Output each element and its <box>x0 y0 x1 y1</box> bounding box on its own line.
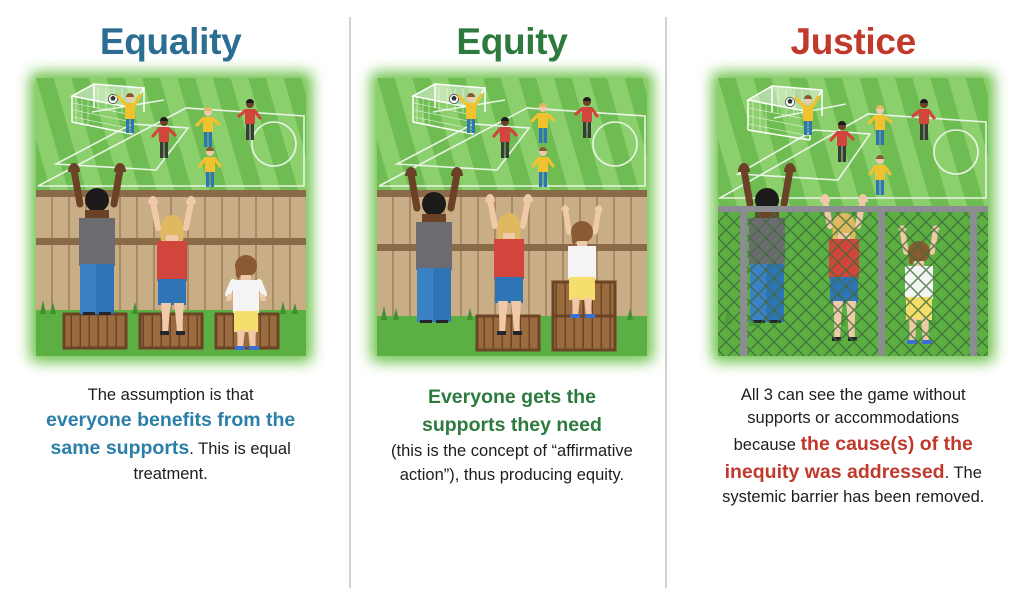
caption-part1: The assumption is that <box>88 386 254 404</box>
caption-highlight: Everyone gets the supports they need <box>386 384 638 439</box>
panel-title-equality: Equality <box>100 18 242 66</box>
panel-justice: Justice <box>683 0 1024 606</box>
panel-equity: Equity <box>341 0 682 606</box>
illustration-canvas <box>377 78 647 356</box>
illustration-canvas <box>36 78 306 356</box>
caption-justice: All 3 can see the game without supports … <box>717 384 989 510</box>
caption-equity: Everyone gets the supports they need(thi… <box>386 384 638 487</box>
illustration-canvas <box>718 78 988 356</box>
caption-equality: The assumption is that everyone benefits… <box>45 384 297 486</box>
panel-equality: Equality <box>0 0 341 606</box>
illustration-equity <box>371 72 653 362</box>
panel-title-equity: Equity <box>456 18 567 66</box>
illustration-justice <box>712 72 994 362</box>
caption-part2: (this is the concept of “affirmative act… <box>391 442 633 483</box>
illustration-equality <box>30 72 312 362</box>
infographic-board: Equality <box>0 0 1024 606</box>
panel-title-justice: Justice <box>791 18 916 66</box>
